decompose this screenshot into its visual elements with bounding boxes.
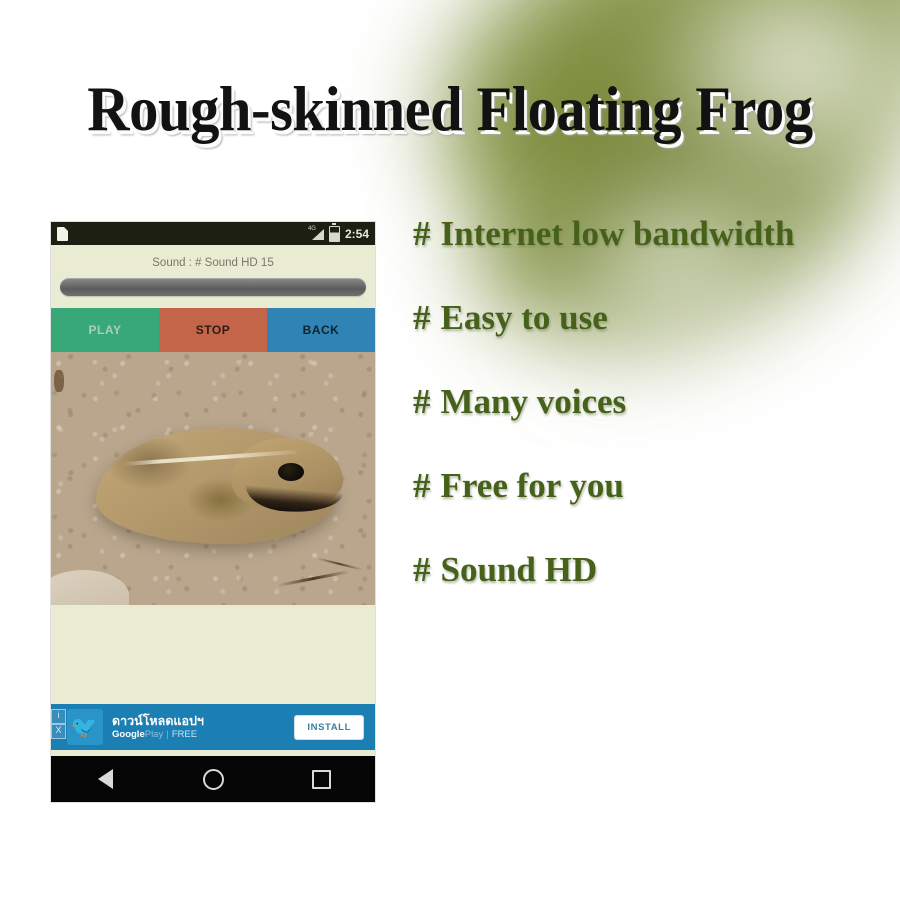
feature-label: Many voices — [441, 382, 627, 421]
adchoices-icon[interactable]: i — [51, 709, 66, 724]
stop-button[interactable]: STOP — [159, 308, 267, 352]
seekbar[interactable] — [60, 278, 366, 296]
back-button[interactable]: BACK — [267, 308, 375, 352]
adchoices-controls[interactable]: i X — [51, 709, 65, 739]
feature-label: Easy to use — [441, 298, 608, 337]
status-bar-clock: 2:54 — [345, 227, 369, 241]
play-label: Play — [145, 729, 163, 740]
feature-label: Free for you — [441, 466, 624, 505]
ad-title: ดาวน์โหลดแอปฯ — [112, 714, 294, 728]
transport-buttons: PLAY STOP BACK — [51, 308, 375, 352]
sound-title-label: Sound : # Sound HD 15 — [51, 245, 375, 278]
feature-label: Internet low bandwidth — [441, 214, 795, 253]
feature-list: #Internet low bandwidth #Easy to use #Ma… — [413, 216, 883, 636]
feature-item: #Internet low bandwidth — [413, 216, 883, 251]
hash-bullet-icon: # — [413, 298, 431, 337]
ad-price: FREE — [172, 729, 197, 740]
ad-subtitle: GooglePlay|FREE — [112, 729, 294, 741]
hash-bullet-icon: # — [413, 382, 431, 421]
play-button[interactable]: PLAY — [51, 308, 159, 352]
feature-item: #Easy to use — [413, 300, 883, 335]
android-navigation-bar — [51, 756, 375, 802]
ad-app-icon: 🐦 — [67, 709, 103, 745]
circle-home-icon — [203, 769, 224, 790]
phone-screenshot: 4G 2:54 Sound : # Sound HD 15 PLAY STOP … — [51, 222, 375, 802]
nav-recents-button[interactable] — [298, 756, 344, 802]
nav-home-button[interactable] — [190, 756, 236, 802]
status-bar-indicators: 4G 2:54 — [309, 226, 369, 242]
signal-4g-icon: 4G — [309, 227, 324, 240]
seekbar-container — [51, 278, 375, 308]
hash-bullet-icon: # — [413, 550, 431, 589]
ad-text-block: ดาวน์โหลดแอปฯ GooglePlay|FREE — [112, 714, 294, 741]
hash-bullet-icon: # — [413, 214, 431, 253]
feature-item: #Many voices — [413, 384, 883, 419]
bird-icon: 🐦 — [69, 713, 100, 740]
close-icon[interactable]: X — [51, 724, 66, 739]
feature-item: #Sound HD — [413, 552, 883, 587]
frog-eye — [278, 463, 304, 481]
google-label: Google — [112, 729, 145, 740]
photo-dark-speck — [54, 370, 64, 393]
frog-photo — [51, 352, 375, 605]
status-bar-notifications — [57, 227, 309, 241]
android-status-bar: 4G 2:54 — [51, 222, 375, 245]
signal-bars-icon — [312, 229, 324, 240]
battery-icon — [329, 226, 340, 242]
google-play-ad-banner[interactable]: i X 🐦 ดาวน์โหลดแอปฯ GooglePlay|FREE INST… — [51, 704, 375, 750]
nav-back-button[interactable] — [82, 756, 128, 802]
page-title: Rough-skinned Floating Frog — [32, 78, 869, 141]
install-button[interactable]: INSTALL — [294, 715, 364, 740]
hash-bullet-icon: # — [413, 466, 431, 505]
square-recents-icon — [312, 770, 331, 789]
feature-label: Sound HD — [441, 550, 598, 589]
triangle-back-icon — [98, 769, 113, 789]
feature-item: #Free for you — [413, 468, 883, 503]
ad-separator: | — [166, 729, 168, 740]
document-icon — [57, 227, 68, 241]
